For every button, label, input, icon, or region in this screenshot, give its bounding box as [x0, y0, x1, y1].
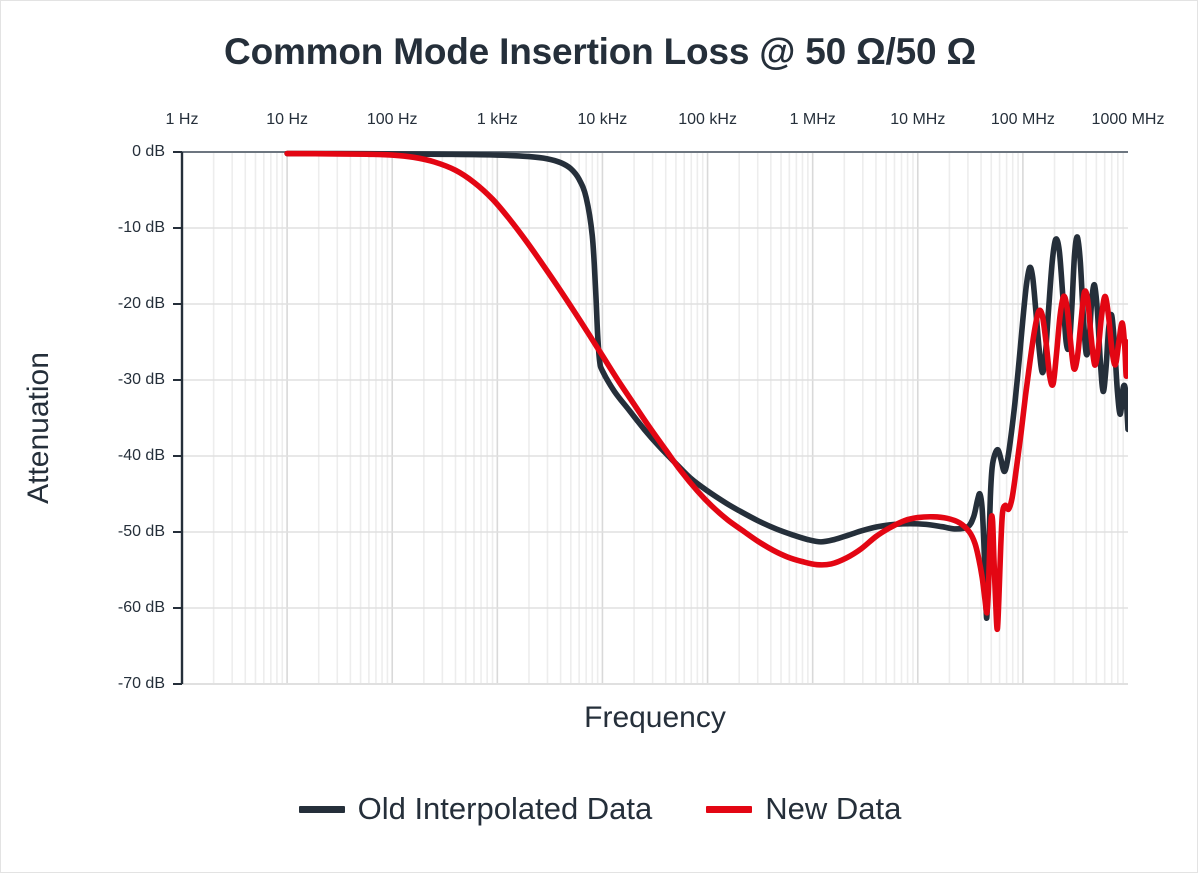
x-tick-label: 100 kHz	[678, 111, 737, 129]
x-tick-label: 1000 MHz	[1092, 111, 1165, 129]
y-tick-label: -60 dB	[118, 599, 165, 617]
x-tick-label: 10 Hz	[266, 111, 308, 129]
y-tick-label: -10 dB	[118, 219, 165, 237]
x-axis-title: Frequency	[182, 701, 1128, 735]
y-tick-label: -20 dB	[118, 295, 165, 313]
y-tick-label: 0 dB	[132, 143, 165, 161]
legend-label: Old Interpolated Data	[358, 791, 653, 827]
legend-item[interactable]: Old Interpolated Data	[299, 791, 653, 827]
legend-label: New Data	[765, 791, 901, 827]
x-tick-label: 100 MHz	[991, 111, 1055, 129]
y-tick-label: -30 dB	[118, 371, 165, 389]
x-tick-label: 10 kHz	[577, 111, 627, 129]
y-tick-label: -40 dB	[118, 447, 165, 465]
y-axis-title: Attenuation	[22, 328, 56, 528]
y-tick-label: -70 dB	[118, 675, 165, 693]
legend-color-swatch	[299, 806, 345, 813]
x-tick-label: 1 MHz	[790, 111, 836, 129]
x-tick-label: 10 MHz	[890, 111, 945, 129]
chart-legend: Old Interpolated DataNew Data	[1, 791, 1199, 827]
x-tick-label: 100 Hz	[367, 111, 418, 129]
chart-container: Common Mode Insertion Loss @ 50 Ω/50 Ω 1…	[0, 0, 1198, 873]
legend-item[interactable]: New Data	[706, 791, 901, 827]
y-tick-label: -50 dB	[118, 523, 165, 541]
x-tick-label: 1 kHz	[477, 111, 518, 129]
legend-color-swatch	[706, 806, 752, 813]
